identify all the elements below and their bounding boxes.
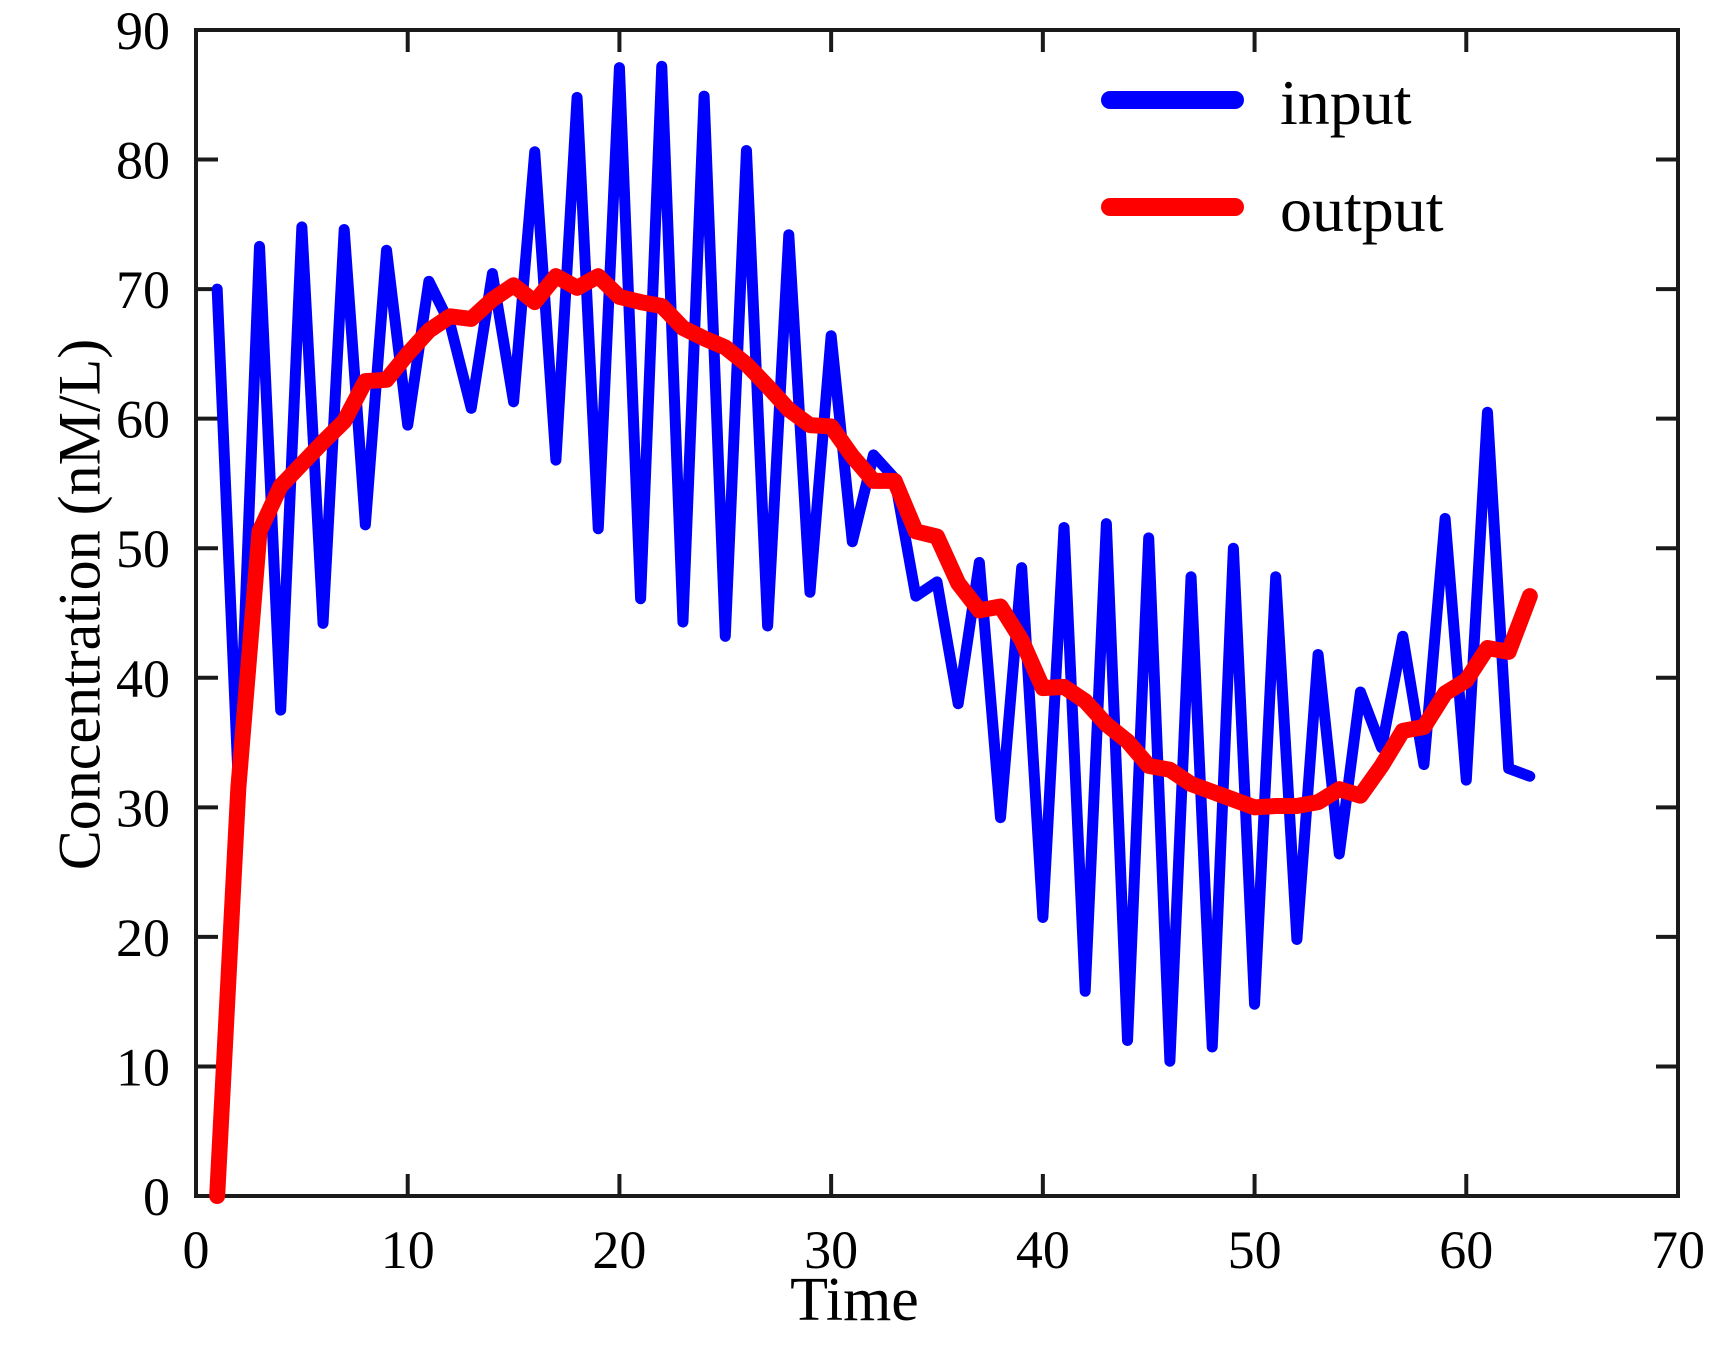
- y-tick-label: 70: [116, 260, 170, 320]
- y-tick-label: 20: [116, 908, 170, 968]
- plot-canvas: 0102030405060708090 010203040506070 inpu…: [0, 0, 1709, 1372]
- chart-figure: 0102030405060708090 010203040506070 inpu…: [0, 0, 1709, 1372]
- legend-label-input: input: [1280, 67, 1412, 138]
- legend-label-output: output: [1280, 174, 1444, 245]
- y-tick-label: 50: [116, 519, 170, 579]
- y-tick-label: 80: [116, 131, 170, 191]
- y-tick-label: 0: [143, 1167, 170, 1227]
- y-tick-label: 10: [116, 1037, 170, 1097]
- x-axis-label: Time: [0, 1265, 1709, 1336]
- y-axis-tick-labels: 0102030405060708090: [116, 1, 170, 1227]
- y-tick-label: 90: [116, 1, 170, 61]
- y-tick-label: 60: [116, 390, 170, 450]
- y-tick-label: 40: [116, 649, 170, 709]
- legend: inputoutput: [1110, 67, 1444, 245]
- y-tick-label: 30: [116, 778, 170, 838]
- y-axis-label: Concentration (nM/L): [46, 255, 115, 955]
